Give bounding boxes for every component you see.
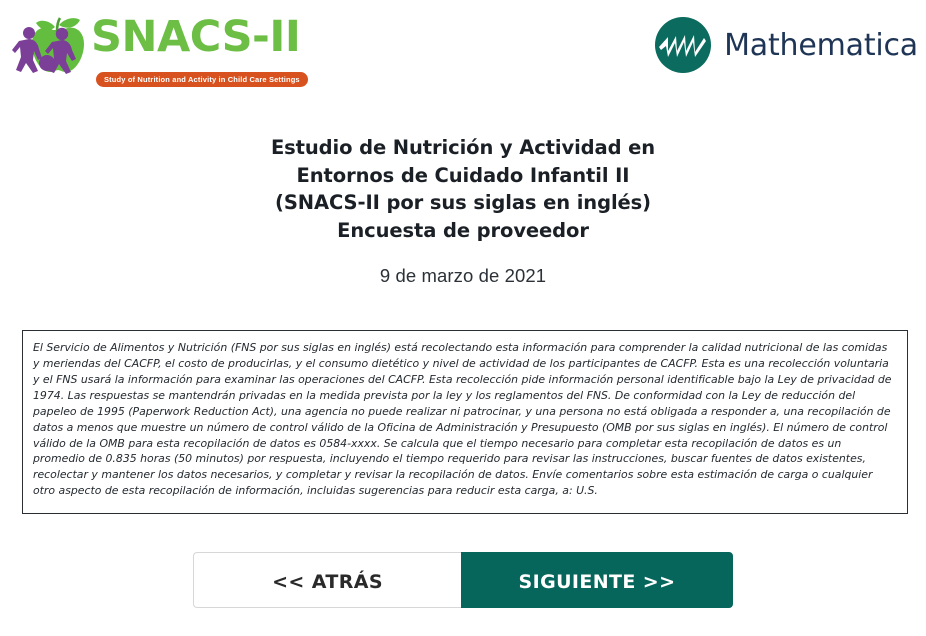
navigation-button-row: << ATRÁS SIGUIENTE >> <box>0 552 926 608</box>
omb-notice-text: El Servicio de Alimentos y Nutrición (FN… <box>33 340 896 499</box>
back-button[interactable]: << ATRÁS <box>193 552 461 608</box>
mathematica-logo: Mathematica <box>654 16 918 74</box>
survey-date: 9 de marzo de 2021 <box>0 265 926 287</box>
snacs-ii-logo: SNACS-II Study of Nutrition and Activity… <box>12 14 302 86</box>
omb-notice-box: El Servicio de Alimentos y Nutrición (FN… <box>22 330 908 514</box>
apple-and-children-playing-icon <box>12 14 98 76</box>
title-line-2: Entornos de Cuidado Infantil II <box>153 162 773 190</box>
mathematica-wordmark: Mathematica <box>724 28 918 63</box>
mathematica-m-mark-icon <box>654 16 712 74</box>
page-title: Estudio de Nutrición y Actividad en Ento… <box>153 134 773 245</box>
title-line-3: (SNACS-II por sus siglas en inglés) <box>153 189 773 217</box>
page-header: SNACS-II Study of Nutrition and Activity… <box>0 0 926 100</box>
title-line-4: Encuesta de proveedor <box>153 217 773 245</box>
snacs-wordmark: SNACS-II <box>91 16 300 59</box>
title-line-1: Estudio de Nutrición y Actividad en <box>153 134 773 162</box>
next-button[interactable]: SIGUIENTE >> <box>461 552 733 608</box>
snacs-tagline: Study of Nutrition and Activity in Child… <box>96 72 308 87</box>
